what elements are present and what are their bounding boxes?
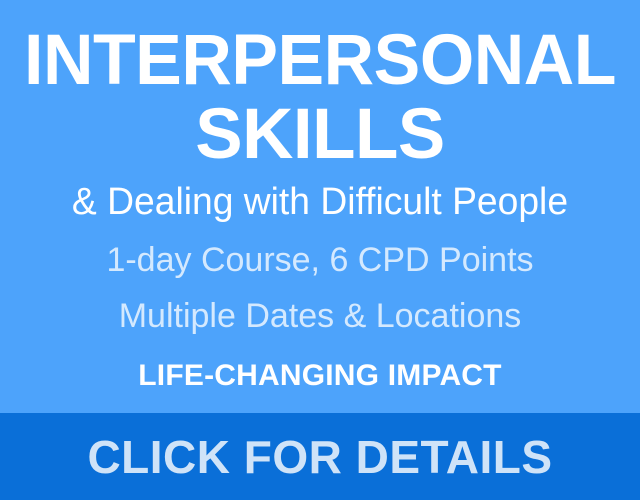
- banner-content: INTERPERSONAL SKILLS & Dealing with Diff…: [0, 0, 640, 413]
- subheadline: & Dealing with Difficult People: [6, 183, 633, 221]
- headline-line-1: INTERPERSONAL: [5, 27, 635, 95]
- impact-tagline: LIFE-CHANGING IMPACT: [0, 361, 640, 391]
- cta-button-label: CLICK FOR DETAILS: [87, 434, 552, 480]
- headline-line-2: SKILLS: [0, 101, 640, 169]
- advertisement-banner[interactable]: INTERPERSONAL SKILLS & Dealing with Diff…: [0, 0, 640, 500]
- cta-button[interactable]: CLICK FOR DETAILS: [0, 413, 640, 500]
- detail-dates-locations: Multiple Dates & Locations: [0, 299, 640, 333]
- detail-course-info: 1-day Course, 6 CPD Points: [0, 243, 640, 277]
